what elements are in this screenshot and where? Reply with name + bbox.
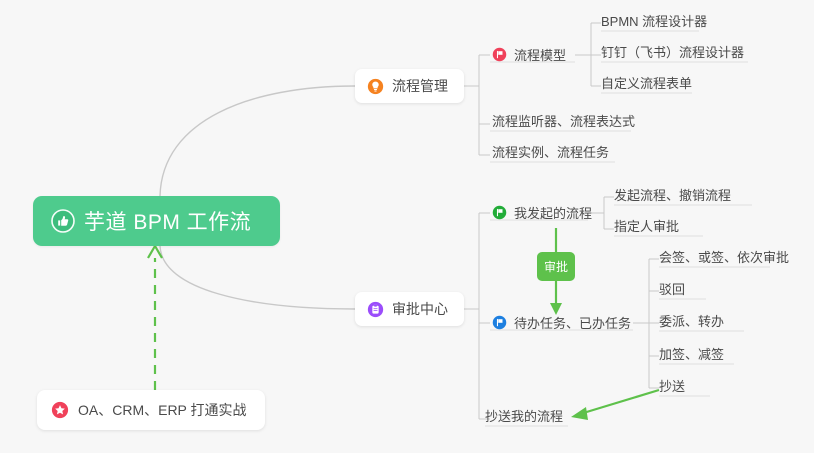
approval-badge-label: 审批 [544,258,568,275]
label-todo-done-tasks: 待办任务、已办任务 [514,313,631,332]
node-my-initiated-process[interactable]: 我发起的流程 [492,200,592,226]
flag-icon [492,315,507,330]
leaf-cc-to-me-process[interactable]: 抄送我的流程 [485,406,563,431]
cc-arrow-head [571,407,588,420]
connector-root-to-process-management [160,86,355,196]
leaf-start-cancel-process[interactable]: 发起流程、撤销流程 [614,185,731,210]
root-node[interactable]: 芋道 BPM 工作流 [33,196,280,246]
connector-root-to-approval-center [160,246,355,309]
integration-callout-label: OA、CRM、ERP 打通实战 [78,400,247,420]
mindmap-canvas: 芋道 BPM 工作流 流程管理 审批中心 [0,0,814,453]
leaf-reject[interactable]: 驳回 [659,279,685,304]
root-label: 芋道 BPM 工作流 [84,206,251,236]
leaf-assignee-approval[interactable]: 指定人审批 [614,216,679,241]
cc-arrow-line [580,390,659,414]
leaf-add-remove-sign[interactable]: 加签、减签 [659,344,724,369]
branch-label-approval-center: 审批中心 [392,299,448,319]
node-process-model[interactable]: 流程模型 [492,42,566,68]
branch-label-process-management: 流程管理 [392,76,448,96]
approval-badge[interactable]: 审批 [537,252,575,281]
leaf-cc[interactable]: 抄送 [659,376,685,401]
clipboard-icon [367,301,384,318]
label-my-initiated-process: 我发起的流程 [514,203,592,222]
branch-node-approval-center[interactable]: 审批中心 [355,292,464,326]
leaf-process-listener-expression[interactable]: 流程监听器、流程表达式 [492,111,635,136]
leaf-custom-process-form[interactable]: 自定义流程表单 [601,73,692,98]
flag-icon [492,47,507,62]
thumbs-up-icon [51,209,75,233]
leaf-delegate-transfer[interactable]: 委派、转办 [659,311,724,336]
lightbulb-icon [367,78,384,95]
star-icon [51,401,69,419]
integration-dashed-arrow-head [148,246,162,258]
integration-callout-node[interactable]: OA、CRM、ERP 打通实战 [37,390,265,430]
leaf-countersign-orsign-sequential[interactable]: 会签、或签、依次审批 [659,247,789,272]
node-todo-done-tasks[interactable]: 待办任务、已办任务 [492,310,631,336]
flag-icon [492,205,507,220]
leaf-dingtalk-feishu-designer[interactable]: 钉钉（飞书）流程设计器 [601,42,744,67]
label-process-model: 流程模型 [514,45,566,64]
leaf-bpmn-designer[interactable]: BPMN 流程设计器 [601,11,707,36]
branch-node-process-management[interactable]: 流程管理 [355,69,464,103]
leaf-process-instance-task[interactable]: 流程实例、流程任务 [492,142,609,167]
